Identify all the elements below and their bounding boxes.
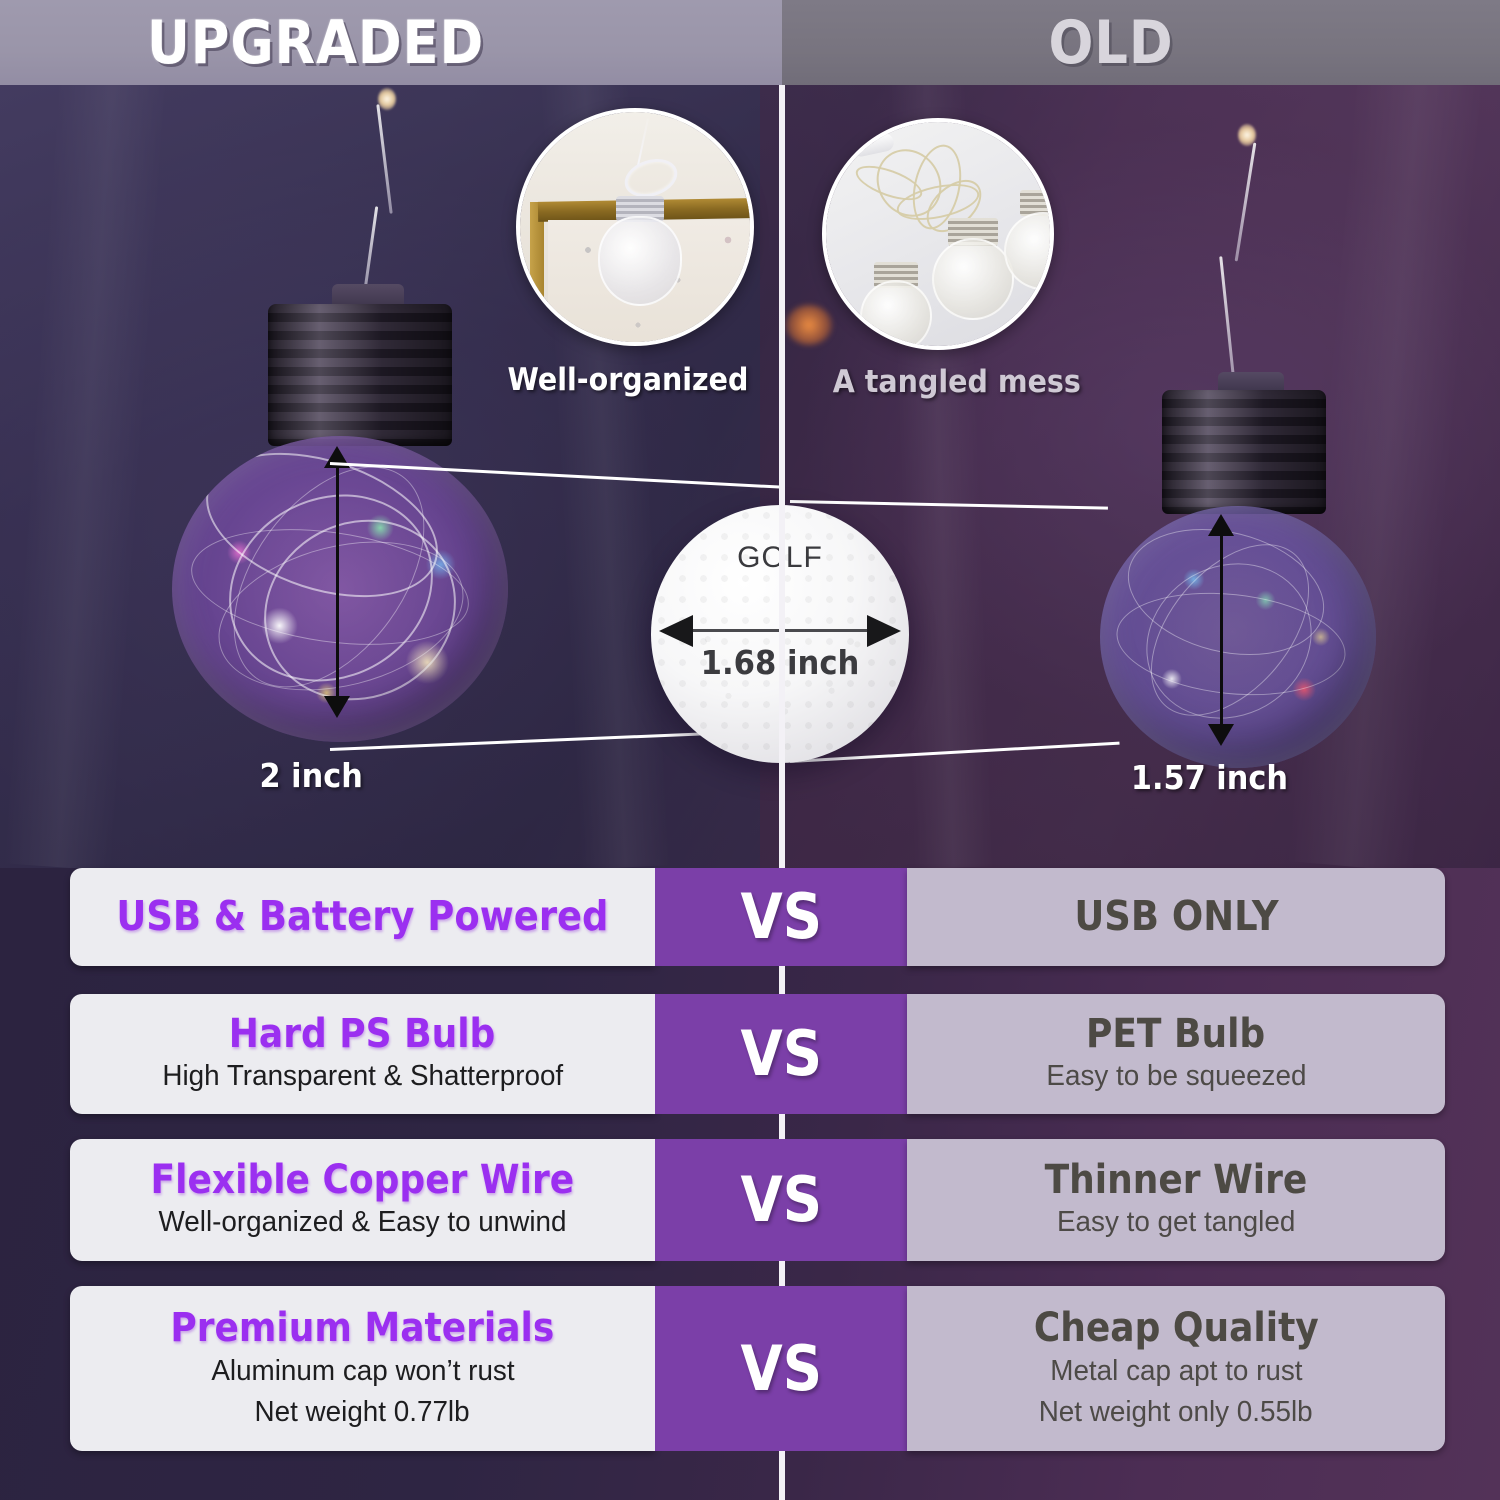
table-row: Flexible Copper Wire Well-organized & Ea… bbox=[70, 1139, 1445, 1261]
clear-bulb bbox=[860, 280, 932, 350]
row-right-subtitle-2: Net weight only 0.55lb bbox=[1039, 1395, 1313, 1430]
table-row: USB & Battery Powered VS USB ONLY bbox=[70, 868, 1445, 966]
hanging-wire bbox=[376, 104, 392, 214]
vs-label: VS bbox=[740, 1338, 822, 1400]
bulb-cap bbox=[268, 304, 452, 446]
hanging-wire bbox=[363, 206, 378, 296]
row-right-title: PET Bulb bbox=[1086, 1013, 1265, 1055]
wall-molding bbox=[530, 202, 544, 346]
row-left-subtitle: Well-organized & Easy to unwind bbox=[158, 1205, 566, 1240]
upgraded-size-label: 2 inch bbox=[259, 756, 362, 795]
header-old-label: OLD bbox=[1048, 13, 1173, 73]
vs-badge: VS bbox=[655, 994, 907, 1114]
measure-arrow-up bbox=[1208, 514, 1234, 536]
upgraded-bulb bbox=[150, 88, 550, 778]
row-right-subtitle: Metal cap apt to rust bbox=[1050, 1354, 1302, 1389]
row-right-cell: Thinner Wire Easy to get tangled bbox=[907, 1139, 1445, 1261]
inset-well-organized bbox=[516, 108, 754, 346]
header-upgraded-label: UPGRADED bbox=[147, 13, 484, 73]
measure-line bbox=[1220, 534, 1223, 726]
clear-bulb bbox=[932, 238, 1014, 320]
row-left-title: Flexible Copper Wire bbox=[151, 1159, 575, 1201]
infographic-canvas: 2 inch 1.57 inch GOLF 1.68 inch bbox=[0, 0, 1500, 1500]
vs-badge: VS bbox=[655, 1139, 907, 1261]
row-left-title: Hard PS Bulb bbox=[229, 1013, 496, 1055]
wire-tail bbox=[637, 118, 649, 165]
bulb-glass bbox=[1100, 506, 1376, 768]
row-right-subtitle: Easy to be squeezed bbox=[1046, 1059, 1306, 1094]
row-left-cell: Flexible Copper Wire Well-organized & Ea… bbox=[70, 1139, 655, 1261]
inset-caption-well-organized: Well-organized bbox=[507, 362, 748, 398]
row-right-title: Cheap Quality bbox=[1034, 1307, 1319, 1349]
hanging-wire bbox=[1219, 256, 1236, 386]
row-left-title: USB & Battery Powered bbox=[116, 895, 608, 938]
comparison-table: USB & Battery Powered VS USB ONLY Hard P… bbox=[0, 868, 1500, 1500]
measure-arrow-down bbox=[1208, 724, 1234, 746]
row-right-title: Thinner Wire bbox=[1045, 1159, 1308, 1201]
row-right-cell: Cheap Quality Metal cap apt to rust Net … bbox=[907, 1286, 1445, 1451]
vs-badge: VS bbox=[655, 868, 907, 966]
inset-photo-neat bbox=[520, 112, 750, 342]
row-left-title: Premium Materials bbox=[171, 1307, 555, 1349]
table-row: Premium Materials Aluminum cap won’t rus… bbox=[70, 1286, 1445, 1451]
header-old: OLD bbox=[782, 0, 1500, 85]
row-left-cell: Premium Materials Aluminum cap won’t rus… bbox=[70, 1286, 655, 1451]
inset-caption-tangled-mess: A tangled mess bbox=[833, 364, 1081, 400]
row-right-title: USB ONLY bbox=[1074, 895, 1278, 938]
wire-tip-glow bbox=[378, 88, 396, 110]
row-right-cell: USB ONLY bbox=[907, 868, 1445, 966]
inset-photo-tangled bbox=[826, 122, 1050, 346]
inset-tangled-mess bbox=[822, 118, 1054, 350]
row-left-subtitle: High Transparent & Shatterproof bbox=[162, 1059, 563, 1094]
vs-label: VS bbox=[740, 1023, 822, 1085]
row-right-subtitle: Easy to get tangled bbox=[1057, 1205, 1295, 1240]
table-row: Hard PS Bulb High Transparent & Shatterp… bbox=[70, 994, 1445, 1114]
header-upgraded: UPGRADED bbox=[0, 0, 782, 85]
row-left-cell: USB & Battery Powered bbox=[70, 868, 655, 966]
row-left-subtitle-2: Net weight 0.77lb bbox=[255, 1395, 470, 1430]
vs-label: VS bbox=[740, 1169, 822, 1231]
vs-badge: VS bbox=[655, 1286, 907, 1451]
hanging-wire bbox=[1235, 143, 1257, 262]
bulb-cap bbox=[1162, 390, 1326, 514]
measure-arrow-down bbox=[324, 696, 350, 718]
row-right-cell: PET Bulb Easy to be squeezed bbox=[907, 994, 1445, 1114]
clear-bulb bbox=[598, 216, 682, 306]
measure-line bbox=[336, 466, 339, 698]
vs-label: VS bbox=[740, 886, 822, 948]
row-left-subtitle: Aluminum cap won’t rust bbox=[211, 1354, 514, 1389]
old-size-label: 1.57 inch bbox=[1131, 758, 1288, 797]
old-bulb bbox=[1100, 110, 1440, 770]
row-left-cell: Hard PS Bulb High Transparent & Shatterp… bbox=[70, 994, 655, 1114]
